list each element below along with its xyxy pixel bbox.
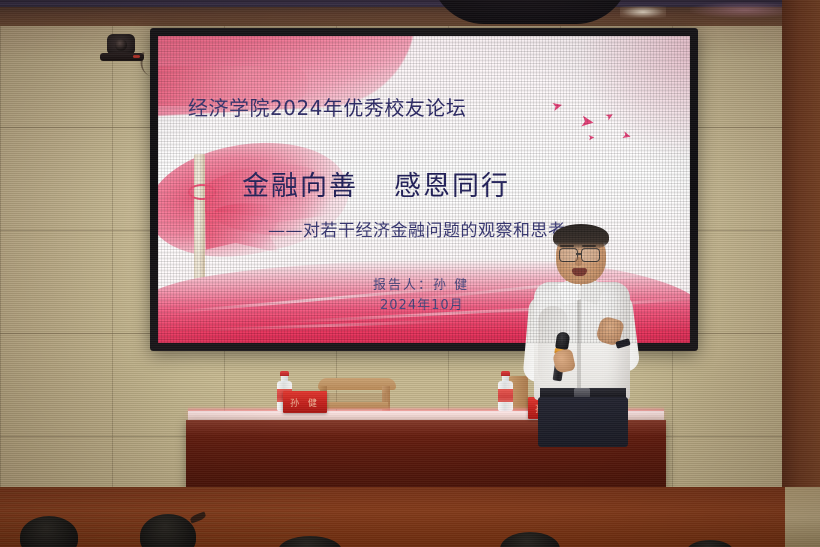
eyebrow-right (582, 245, 596, 247)
ptz-camera (100, 34, 144, 64)
water-bottle (498, 371, 513, 411)
nameplate-left: 孙 健 (283, 391, 327, 413)
ceiling-light-glare (620, 6, 666, 18)
lecture-hall-photo: ➤ ➤ ➤ ➤ ➤ 经济学院2024年优秀校友论坛 金融向善感恩同行 ——对若干… (0, 0, 820, 547)
speaker-mouth (572, 268, 587, 276)
chair-gap (326, 393, 386, 402)
slide-presenter-line: 报告人：孙 健 (373, 274, 469, 293)
nameplate-text: 孙 健 (290, 396, 320, 409)
slide-date-line: 2024年10月 (380, 294, 464, 313)
slide-headline: 金融向善感恩同行 (242, 164, 510, 203)
speaker (518, 222, 646, 422)
eyebrow-left (560, 245, 574, 247)
right-wood-column (782, 0, 820, 547)
shirt-placket (577, 296, 581, 392)
speaker-trousers (538, 397, 628, 447)
bottle-label (498, 389, 513, 402)
speaker-nose (575, 257, 582, 266)
glasses-bridge (576, 253, 582, 255)
lower-wall-right-panel (785, 487, 820, 547)
camera-lens-icon (115, 39, 127, 51)
glasses-lens-right-icon (581, 248, 600, 262)
slide-title: 经济学院2024年优秀校友论坛 (188, 92, 608, 121)
slide-headline-right: 感恩同行 (394, 171, 510, 202)
camera-status-led (133, 55, 140, 58)
slide-headline-left: 金融向善 (242, 171, 358, 202)
